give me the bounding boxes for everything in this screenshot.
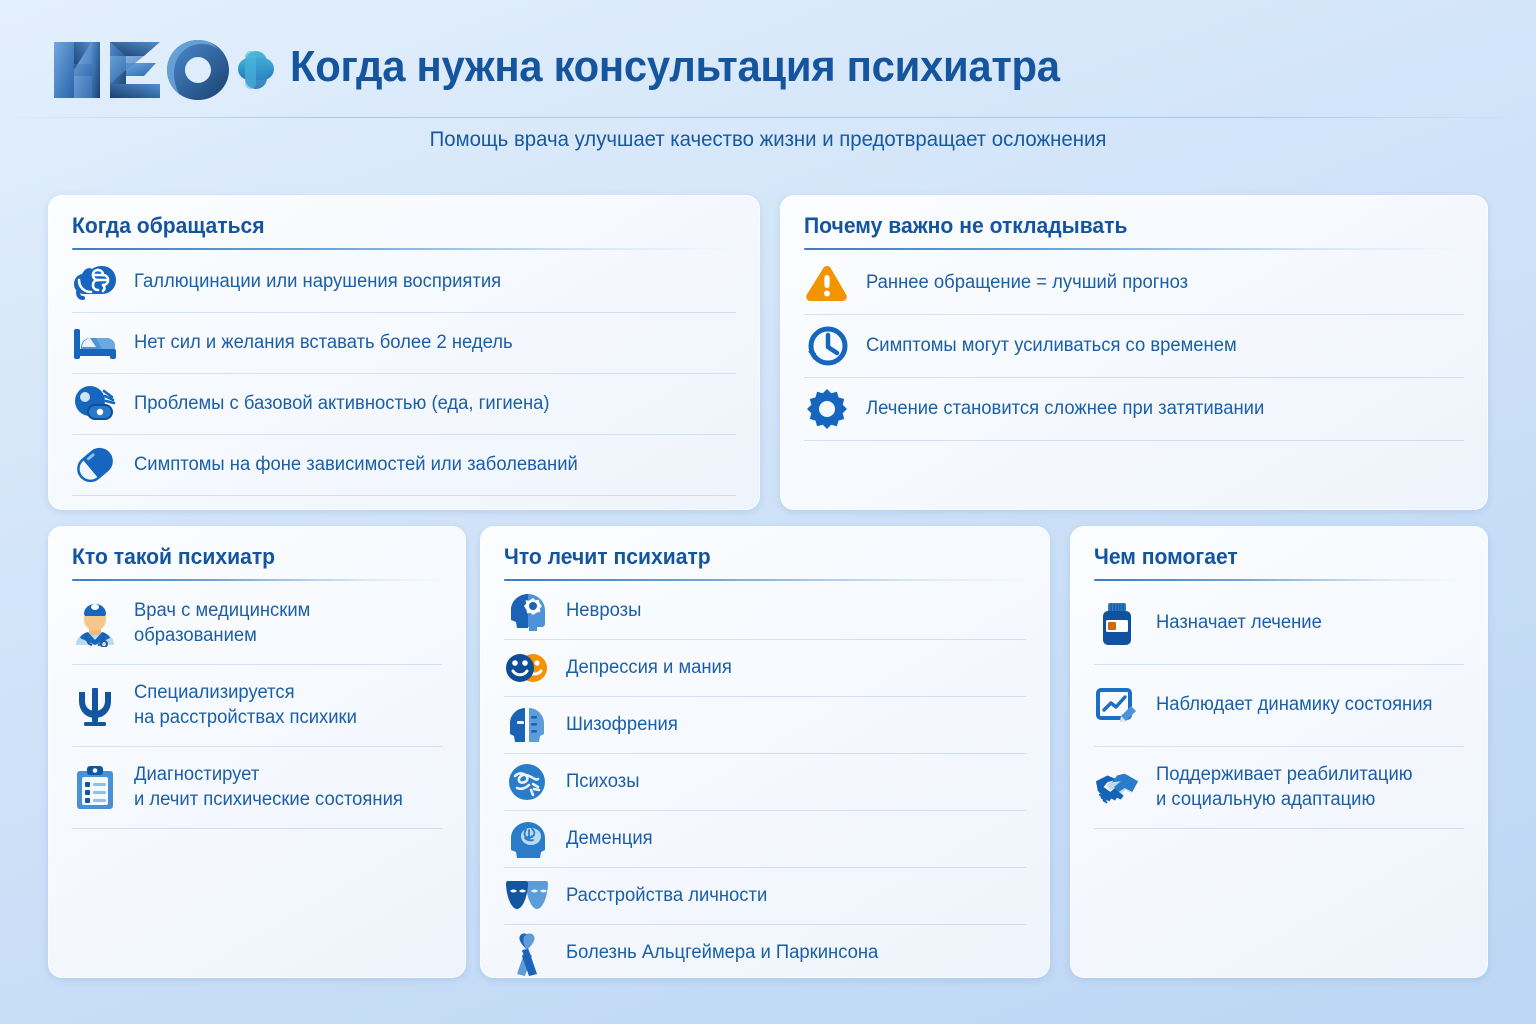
list-item-label: Назначает лечение xyxy=(1156,611,1322,636)
list-item-label: Нет сил и желания вставать более 2 недел… xyxy=(134,331,513,355)
psi-symbol-icon xyxy=(72,683,118,729)
list-item-label: Диагностирует и лечит психические состоя… xyxy=(134,763,403,812)
list-item-label: Поддерживает реабилитацию и социальную а… xyxy=(1156,763,1413,812)
card-rows: Раннее обращение = лучший прогноз Симпто… xyxy=(804,252,1464,441)
list-item[interactable]: Болезнь Альцгеймера и Паркинсона xyxy=(504,925,1026,982)
page-header: Когда нужна консультация психиатра Помощ… xyxy=(0,0,1536,170)
list-item-label: Неврозы xyxy=(566,599,641,623)
split-head-icon xyxy=(504,702,550,748)
self-care-icon xyxy=(72,381,118,427)
list-item-label: Деменция xyxy=(566,827,653,851)
card-title-underline xyxy=(72,248,736,250)
list-item-label: Проблемы с базовой активностью (еда, гиг… xyxy=(134,392,550,416)
card-rows: Врач с медицинским образованием Специали… xyxy=(72,583,442,829)
card-rows: Назначает лечение Наблюдает динамику сос… xyxy=(1094,583,1464,829)
card-how-it-helps: Чем помогает Назначает лечение xyxy=(1070,526,1488,978)
list-item[interactable]: Наблюдает динамику состояния xyxy=(1094,665,1464,747)
list-item-label: Специализируется на расстройствах психик… xyxy=(134,681,357,730)
list-item[interactable]: Поддерживает реабилитацию и социальную а… xyxy=(1094,747,1464,829)
page-title: Когда нужна консультация психиатра xyxy=(290,42,1060,92)
card-who-is-psychiatrist: Кто такой психиатр Врач с медицинским об… xyxy=(48,526,466,978)
chart-pen-icon xyxy=(1094,683,1140,729)
neo-plus-logo xyxy=(52,36,276,104)
list-item[interactable]: Депрессия и мания xyxy=(504,640,1026,697)
list-item[interactable]: Нет сил и желания вставать более 2 недел… xyxy=(72,313,736,374)
list-item-label: Шизофрения xyxy=(566,713,678,737)
page-subtitle: Помощь врача улучшает качество жизни и п… xyxy=(23,128,1513,152)
theatre-masks-icon xyxy=(504,873,550,919)
list-item-label: Наблюдает динамику состояния xyxy=(1156,693,1433,718)
card-rows: Неврозы Депрессия и мания xyxy=(504,583,1026,982)
list-item-label: Лечение становится сложнее при затятиван… xyxy=(866,397,1264,421)
list-item[interactable]: Шизофрения xyxy=(504,697,1026,754)
warning-triangle-icon xyxy=(804,260,850,306)
bed-icon xyxy=(72,320,118,366)
card-title-underline xyxy=(504,579,1026,581)
capsule-icon xyxy=(72,442,118,488)
card-why-not-delay: Почему важно не откладывать Раннее обращ… xyxy=(780,195,1488,510)
tangled-mind-icon xyxy=(504,759,550,805)
card-title-underline xyxy=(804,248,1464,250)
list-item[interactable]: Деменция xyxy=(504,811,1026,868)
list-item[interactable]: Симптомы могут усиливаться со временем xyxy=(804,315,1464,378)
list-item-label: Депрессия и мания xyxy=(566,656,732,680)
head-gear-icon xyxy=(504,588,550,634)
card-title: Чем помогает xyxy=(1094,544,1449,570)
list-item[interactable]: Проблемы с базовой активностью (еда, гиг… xyxy=(72,374,736,435)
list-item-label: Врач с медицинским образованием xyxy=(134,599,310,648)
gear-icon xyxy=(804,386,850,432)
header-divider xyxy=(0,117,1536,118)
card-what-psychiatrist-treats: Что лечит психиатр Неврозы xyxy=(480,526,1050,978)
list-item[interactable]: Неврозы xyxy=(504,583,1026,640)
list-item-label: Симптомы могут усиливаться со временем xyxy=(866,334,1237,358)
list-item[interactable]: Расстройства личности xyxy=(504,868,1026,925)
head-brain-icon xyxy=(504,816,550,862)
card-title: Что лечит психиатр xyxy=(504,544,1005,570)
list-item-label: Болезнь Альцгеймера и Паркинсона xyxy=(566,941,878,965)
list-item-label: Психозы xyxy=(566,770,640,794)
list-item[interactable]: Назначает лечение xyxy=(1094,583,1464,665)
list-item[interactable]: Раннее обращение = лучший прогноз xyxy=(804,252,1464,315)
list-item[interactable]: Врач с медицинским образованием xyxy=(72,583,442,665)
doctor-avatar-icon xyxy=(72,601,118,647)
list-item-label: Симптомы на фоне зависимостей или заболе… xyxy=(134,453,578,477)
clipboard-icon xyxy=(72,765,118,811)
card-title: Кто такой психиатр xyxy=(72,544,427,570)
card-title-underline xyxy=(72,579,442,581)
awareness-ribbon-icon xyxy=(504,930,550,976)
list-item[interactable]: Специализируется на расстройствах психик… xyxy=(72,665,442,747)
pill-bottle-icon xyxy=(1094,601,1140,647)
list-item-label: Расстройства личности xyxy=(566,884,767,908)
list-item[interactable]: Галлюцинации или нарушения восприятия xyxy=(72,252,736,313)
card-when-to-seek-help: Когда обращаться xyxy=(48,195,760,510)
list-item[interactable]: Лечение становится сложнее при затятиван… xyxy=(804,378,1464,441)
list-item[interactable]: Симптомы на фоне зависимостей или заболе… xyxy=(72,435,736,496)
card-title: Когда обращаться xyxy=(72,213,709,239)
handshake-icon xyxy=(1094,765,1140,811)
list-item[interactable]: Психозы xyxy=(504,754,1026,811)
brain-icon xyxy=(72,259,118,305)
list-item[interactable]: Диагностирует и лечит психические состоя… xyxy=(72,747,442,829)
list-item-label: Галлюцинации или нарушения восприятия xyxy=(134,270,501,294)
clock-icon xyxy=(804,323,850,369)
card-title-underline xyxy=(1094,579,1464,581)
two-faces-icon xyxy=(504,645,550,691)
list-item-label: Раннее обращение = лучший прогноз xyxy=(866,271,1188,295)
card-title: Почему важно не откладывать xyxy=(804,213,1438,239)
card-rows: Галлюцинации или нарушения восприятия Не… xyxy=(72,252,736,496)
